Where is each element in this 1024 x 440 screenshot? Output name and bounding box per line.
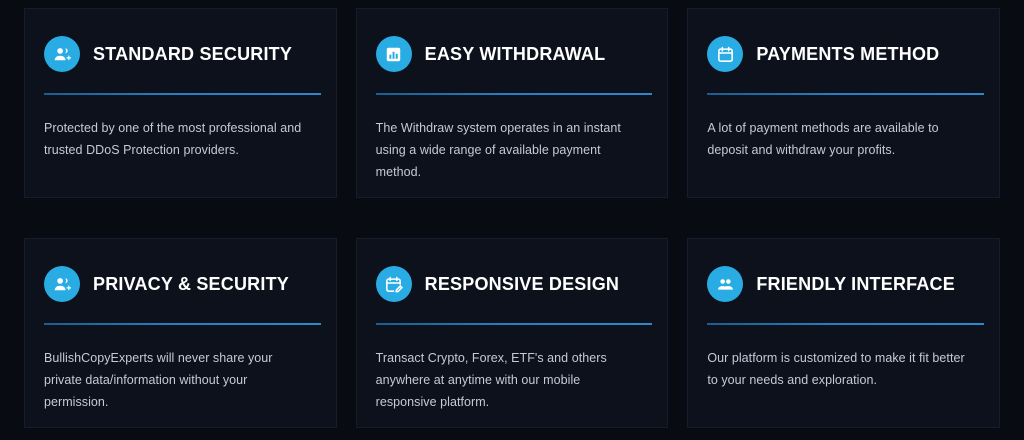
card-description: Transact Crypto, Forex, ETF's and others…: [376, 347, 644, 413]
card-description: A lot of payment methods are available t…: [707, 117, 975, 161]
card-header: RESPONSIVE DESIGN: [376, 266, 653, 302]
card-divider: [707, 323, 984, 325]
features-grid: STANDARD SECURITY Protected by one of th…: [24, 8, 1000, 428]
card-description: Our platform is customized to make it fi…: [707, 347, 975, 391]
card-divider: [44, 93, 321, 95]
calendar-edit-icon: [376, 266, 412, 302]
card-header: FRIENDLY INTERFACE: [707, 266, 984, 302]
feature-card-payments-method[interactable]: PAYMENTS METHOD A lot of payment methods…: [687, 8, 1000, 198]
card-description: The Withdraw system operates in an insta…: [376, 117, 644, 183]
card-divider: [707, 93, 984, 95]
card-divider: [44, 323, 321, 325]
card-header: EASY WITHDRAWAL: [376, 36, 653, 72]
card-header: PAYMENTS METHOD: [707, 36, 984, 72]
feature-card-responsive-design[interactable]: RESPONSIVE DESIGN Transact Crypto, Forex…: [356, 238, 669, 428]
group-icon: [707, 266, 743, 302]
card-divider: [376, 93, 653, 95]
card-header: PRIVACY & SECURITY: [44, 266, 321, 302]
feature-card-easy-withdrawal[interactable]: EASY WITHDRAWAL The Withdraw system oper…: [356, 8, 669, 198]
features-section: STANDARD SECURITY Protected by one of th…: [0, 0, 1024, 440]
user-plus-icon: [44, 266, 80, 302]
card-title: PAYMENTS METHOD: [756, 45, 939, 63]
bar-chart-icon: [376, 36, 412, 72]
feature-card-standard-security[interactable]: STANDARD SECURITY Protected by one of th…: [24, 8, 337, 198]
user-plus-icon: [44, 36, 80, 72]
card-title: EASY WITHDRAWAL: [425, 45, 606, 63]
feature-card-privacy-security[interactable]: PRIVACY & SECURITY BullishCopyExperts wi…: [24, 238, 337, 428]
card-header: STANDARD SECURITY: [44, 36, 321, 72]
card-title: PRIVACY & SECURITY: [93, 275, 289, 293]
card-description: Protected by one of the most professiona…: [44, 117, 312, 161]
card-title: RESPONSIVE DESIGN: [425, 275, 619, 293]
card-title: FRIENDLY INTERFACE: [756, 275, 955, 293]
card-description: BullishCopyExperts will never share your…: [44, 347, 312, 413]
calendar-icon: [707, 36, 743, 72]
card-title: STANDARD SECURITY: [93, 45, 292, 63]
card-divider: [376, 323, 653, 325]
feature-card-friendly-interface[interactable]: FRIENDLY INTERFACE Our platform is custo…: [687, 238, 1000, 428]
